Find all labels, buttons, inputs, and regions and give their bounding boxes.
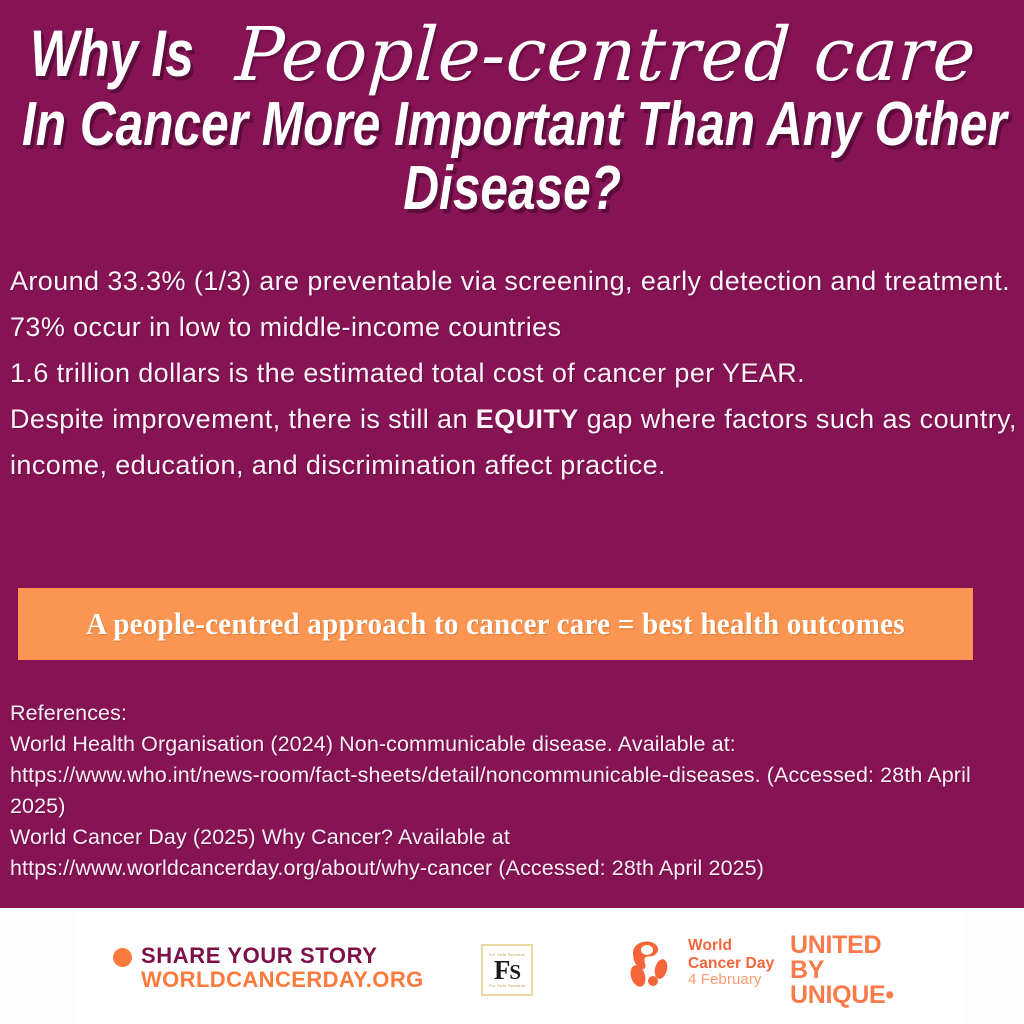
wcd-line-2: Cancer Day: [688, 955, 774, 972]
title-line-2-text: In Cancer More Important Than Any Other: [22, 94, 1007, 156]
body-copy: Around 33.3% (1/3) are preventable via s…: [10, 258, 1018, 488]
body-paragraph-1: Around 33.3% (1/3) are preventable via s…: [10, 258, 1018, 304]
fs-logo: For Safe Success FS For Safe Success: [481, 944, 533, 996]
world-cancer-day-lockup: World Cancer Day 4 February: [625, 936, 774, 990]
fs-logo-bottom-microtext: For Safe Success: [489, 984, 525, 988]
world-cancer-day-mark-icon: [625, 936, 679, 990]
world-cancer-day-wordmark: World Cancer Day 4 February: [688, 937, 774, 989]
ubu-line-3: UNIQUE•: [790, 983, 894, 1008]
title-bold-part: Why Is: [30, 20, 194, 86]
title-line-3: Disease?: [0, 158, 1024, 220]
body-paragraph-3: 1.6 trillion dollars is the estimated to…: [10, 350, 1018, 396]
body-paragraph-2: 73% occur in low to middle-income countr…: [10, 304, 1018, 350]
wcd-line-1: World: [688, 937, 774, 954]
title-line-3-text: Disease?: [403, 158, 621, 220]
fs-logo-letter-f: F: [494, 955, 510, 985]
title-line-2: In Cancer More Important Than Any Other: [22, 94, 1024, 156]
share-text-lines: SHARE YOUR STORY WORLDCANCERDAY.ORG: [141, 944, 424, 992]
worldcancerday-url-label[interactable]: WORLDCANCERDAY.ORG: [141, 968, 424, 992]
reference-1: World Health Organisation (2024) Non-com…: [10, 729, 1014, 760]
body-paragraph-4-prefix: Despite improvement, there is still an: [10, 404, 476, 434]
share-your-story-label: SHARE YOUR STORY: [141, 944, 424, 968]
ubu-line-1: UNITED: [790, 933, 894, 958]
reference-2: World Cancer Day (2025) Why Cancer? Avai…: [10, 822, 1014, 853]
united-by-unique-wordmark: UNITED BY UNIQUE•: [790, 933, 894, 1008]
body-equity-emphasis: EQUITY: [476, 404, 579, 434]
references-heading: References:: [10, 698, 1014, 729]
poster-canvas: Why IsPeople-centred care In Cancer More…: [0, 0, 1024, 1024]
title-line-1: Why IsPeople-centred care: [24, 14, 1024, 88]
fs-logo-letters: FS: [494, 957, 520, 984]
wcd-line-3: 4 February: [688, 972, 774, 989]
orange-dot-icon: [113, 948, 132, 967]
reference-2-url: https://www.worldcancerday.org/about/why…: [10, 853, 1014, 884]
share-your-story-lockup[interactable]: SHARE YOUR STORY WORLDCANCERDAY.ORG: [113, 944, 424, 992]
reference-1-url: https://www.who.int/news-room/fact-sheet…: [10, 760, 1014, 822]
key-message-callout: A people-centred approach to cancer care…: [18, 588, 973, 660]
key-message-text: A people-centred approach to cancer care…: [86, 606, 905, 642]
body-paragraph-4: Despite improvement, there is still an E…: [10, 396, 1018, 488]
title-script-part: People-centred care: [233, 18, 978, 92]
references-block: References: World Health Organisation (2…: [10, 698, 1014, 884]
fs-logo-letter-s: S: [509, 960, 520, 984]
poster-title: Why IsPeople-centred care In Cancer More…: [0, 14, 1024, 220]
ubu-line-2: BY: [790, 958, 894, 983]
